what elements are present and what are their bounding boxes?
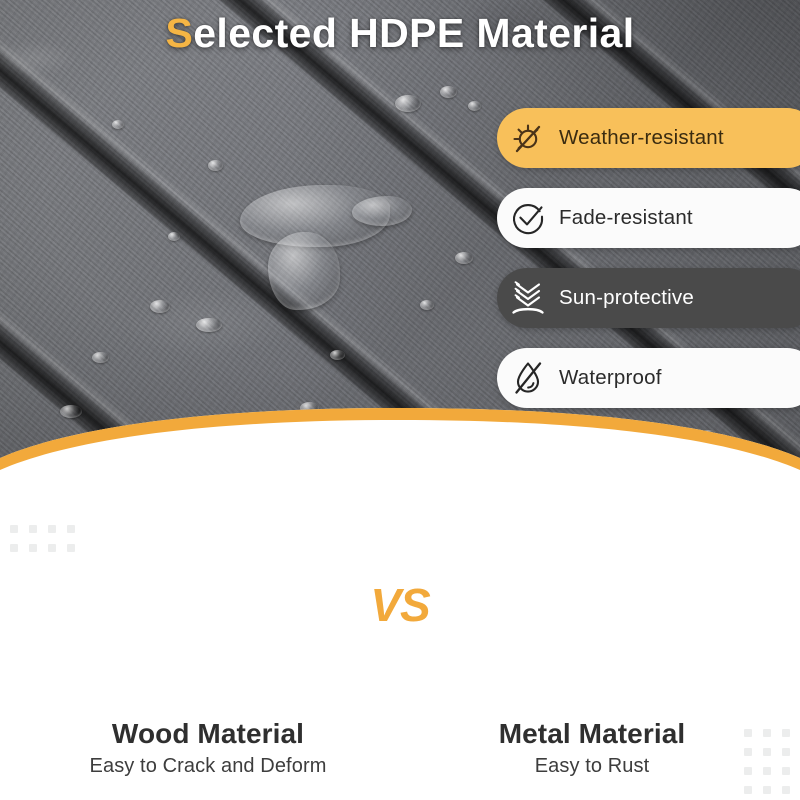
comparison-title: Metal Material [412, 718, 772, 750]
feature-badge-fade-resistant[interactable]: Fade-resistant [497, 188, 800, 248]
page-title: Selected HDPE Material [0, 10, 800, 57]
feature-badge-label: Fade-resistant [559, 206, 693, 230]
feature-badge-label: Waterproof [559, 366, 662, 390]
page-title-rest: elected HDPE Material [193, 10, 634, 56]
circle-check-icon [497, 198, 559, 238]
feature-badge-label: Weather-resistant [559, 126, 724, 150]
sun-slash-icon [497, 118, 559, 158]
comparison-caption-metal: Metal Material Easy to Rust [412, 718, 772, 778]
orange-wave-divider [0, 392, 800, 522]
feature-badge-label: Sun-protective [559, 286, 694, 310]
feature-badge-sun-protective[interactable]: Sun-protective [497, 268, 800, 328]
feature-badge-weather-resistant[interactable]: Weather-resistant [497, 108, 800, 168]
comparison-caption-wood: Wood Material Easy to Crack and Deform [28, 718, 388, 778]
comparison-subtitle: Easy to Crack and Deform [28, 755, 388, 778]
product-feature-poster: Selected HDPE Material Weather-resistant… [0, 0, 800, 800]
versus-label: VS [358, 578, 442, 632]
uv-deflect-icon [497, 277, 559, 319]
page-title-initial: S [165, 10, 193, 56]
comparison-title: Wood Material [28, 718, 388, 750]
comparison-subtitle: Easy to Rust [412, 755, 772, 778]
